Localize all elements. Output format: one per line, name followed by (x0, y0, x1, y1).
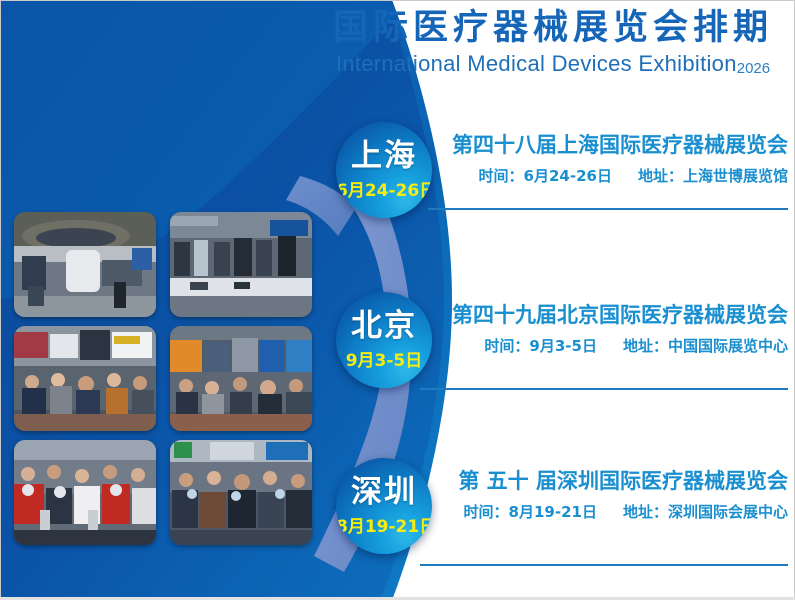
city-badge[interactable]: 上海 6月24-26日 (336, 122, 432, 218)
event-meta: 时间：8月19-21日地址：深圳国际会展中心 (432, 501, 788, 523)
poster-root: 国际医疗器械展览会排期 International Medical Device… (0, 0, 795, 600)
city-badge-date: 8月19-21日 (336, 516, 432, 538)
city-badge-date: 6月24-26日 (336, 180, 432, 202)
event-row[interactable]: 深圳 8月19-21日 第 五十 届深圳国际医疗器械展览会 时间：8月19-21… (0, 458, 795, 578)
row-separator (420, 564, 788, 566)
event-text-block: 第 五十 届深圳国际医疗器械展览会 时间：8月19-21日地址：深圳国际会展中心 (432, 466, 788, 523)
event-time-label: 时间： (464, 503, 509, 521)
city-badge-date: 9月3-5日 (336, 350, 432, 372)
event-time-value: 8月19-21日 (509, 503, 597, 521)
page-title: 国际医疗器械展览会排期 International Medical Device… (318, 6, 788, 84)
city-badge-name: 上海 (336, 138, 432, 174)
event-venue-value: 中国国际展览中心 (668, 337, 788, 355)
title-year: 2026 (737, 60, 770, 77)
title-chinese: 国际医疗器械展览会排期 (318, 6, 788, 50)
event-name: 第四十八届上海国际医疗器械展览会 (432, 130, 788, 160)
event-meta: 时间：9月3-5日地址：中国国际展览中心 (432, 335, 788, 357)
event-time-label: 时间： (484, 337, 529, 355)
title-english: International Medical Devices Exhibition (336, 51, 737, 76)
event-row[interactable]: 北京 9月3-5日 第四十九届北京国际医疗器械展览会 时间：9月3-5日地址：中… (0, 292, 795, 412)
event-venue-label: 地址： (623, 503, 668, 521)
title-english-wrap: International Medical Devices Exhibition… (318, 50, 788, 81)
event-time-value: 9月3-5日 (529, 337, 597, 355)
event-venue-value: 上海世博展览馆 (683, 167, 788, 185)
event-time-value: 6月24-26日 (524, 167, 612, 185)
row-separator (428, 208, 788, 210)
event-text-block: 第四十八届上海国际医疗器械展览会 时间：6月24-26日地址：上海世博展览馆 (432, 130, 788, 187)
city-badge[interactable]: 北京 9月3-5日 (336, 292, 432, 388)
event-venue-value: 深圳国际会展中心 (668, 503, 788, 521)
event-text-block: 第四十九届北京国际医疗器械展览会 时间：9月3-5日地址：中国国际展览中心 (432, 300, 788, 357)
city-badge[interactable]: 深圳 8月19-21日 (336, 458, 432, 554)
row-separator (420, 388, 788, 390)
event-meta: 时间：6月24-26日地址：上海世博展览馆 (432, 165, 788, 187)
event-venue-label: 地址： (638, 167, 683, 185)
event-name: 第 五十 届深圳国际医疗器械展览会 (432, 466, 788, 496)
event-venue-label: 地址： (623, 337, 668, 355)
event-name: 第四十九届北京国际医疗器械展览会 (432, 300, 788, 330)
city-badge-name: 北京 (336, 308, 432, 344)
city-badge-name: 深圳 (336, 474, 432, 510)
event-time-label: 时间： (479, 167, 524, 185)
event-row[interactable]: 上海 6月24-26日 第四十八届上海国际医疗器械展览会 时间：6月24-26日… (0, 122, 795, 242)
